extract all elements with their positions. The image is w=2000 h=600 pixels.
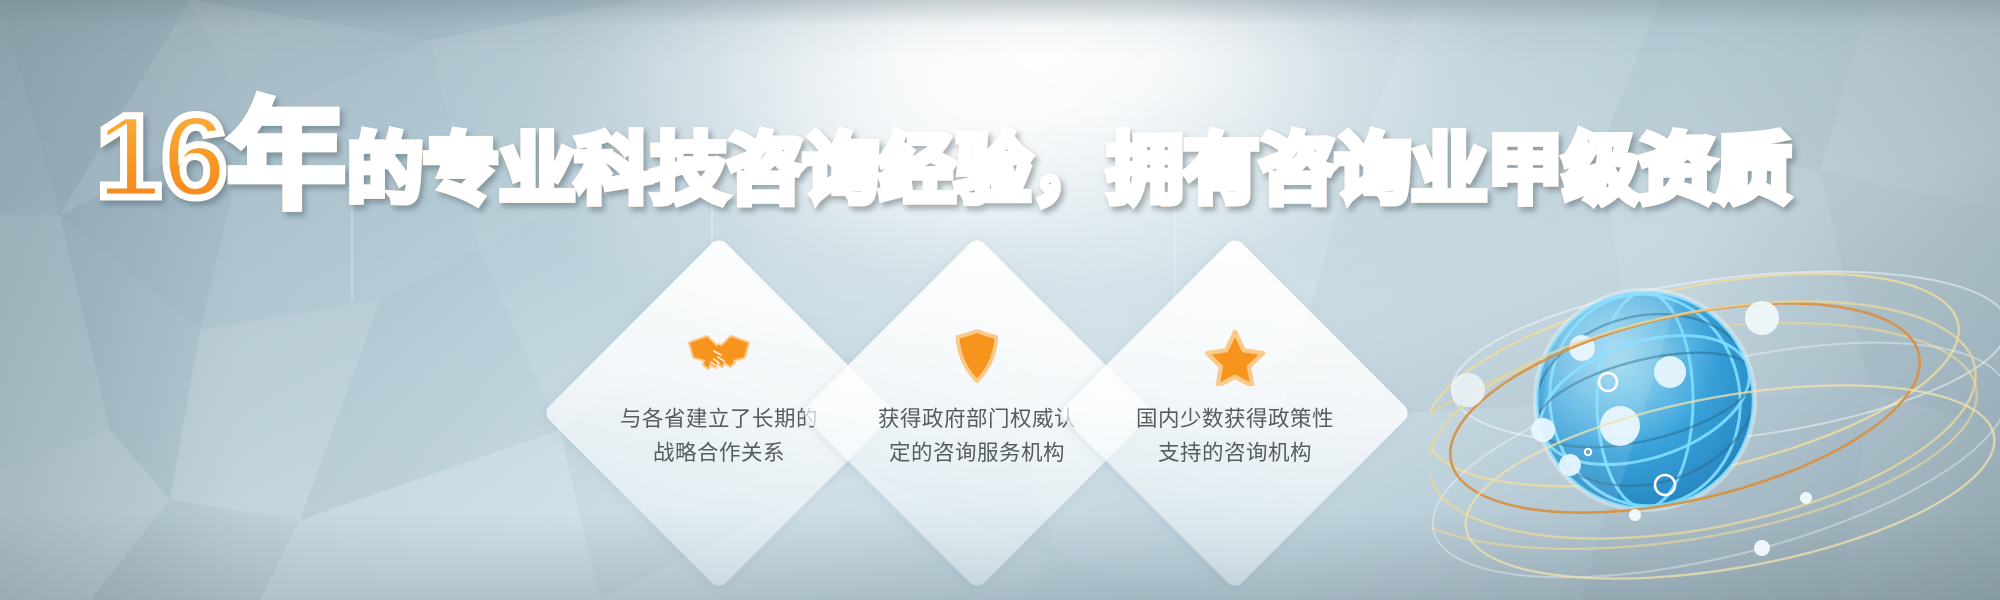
feature-caption-line2: 战略合作关系: [604, 436, 834, 470]
feature-caption: 国内少数获得政策性 支持的咨询机构: [1120, 402, 1350, 470]
feature-caption-line2: 支持的咨询机构: [1120, 436, 1350, 470]
feature-caption-line1: 国内少数获得政策性: [1136, 407, 1334, 431]
promotional-banner: 16年 的专业科技咨询经验，拥有咨询业甲级资质: [0, 0, 2000, 600]
feature-caption: 与各省建立了长期的 战略合作关系: [604, 402, 834, 470]
handshake-icon: [686, 326, 752, 388]
feature-caption: 获得政府部门权威认 定的咨询服务机构: [862, 402, 1092, 470]
feature-caption-line1: 与各省建立了长期的: [620, 407, 818, 431]
feature-caption-line2: 定的咨询服务机构: [862, 436, 1092, 470]
feature-card-policy-support[interactable]: 国内少数获得政策性 支持的咨询机构: [1110, 288, 1360, 538]
star-icon: [1202, 326, 1268, 388]
shield-icon: [944, 326, 1010, 388]
feature-caption-line1: 获得政府部门权威认: [878, 407, 1076, 431]
